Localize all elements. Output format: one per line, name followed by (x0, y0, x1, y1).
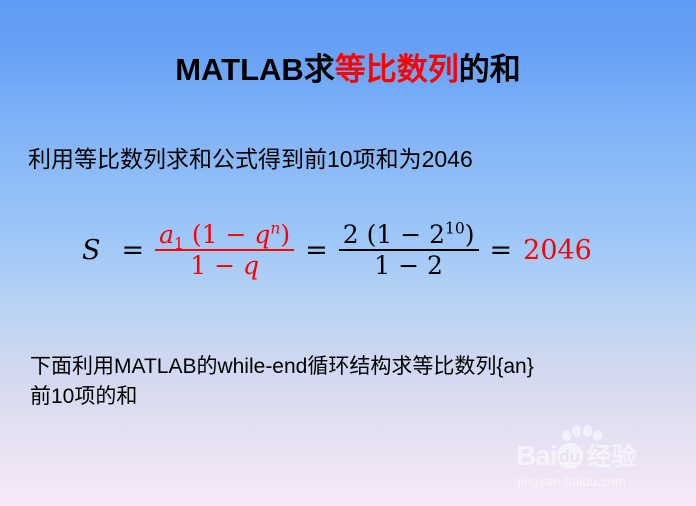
paw-toe-4 (591, 429, 604, 443)
watermark-brand-row: Bai du 经验 (516, 436, 688, 470)
watermark-url: jingyan.baidu.com (516, 474, 688, 489)
formula-equals-second: = (294, 235, 339, 266)
formula-equals-third: = (479, 235, 524, 266)
formula-general-open: (1 − (184, 220, 254, 249)
formula-equals-first: = (111, 235, 156, 266)
paw-print-icon (560, 424, 606, 448)
formula-general-den-pre: 1 − (190, 251, 243, 280)
formula-a-symbol: a (159, 220, 174, 249)
body-line-sum-formula-result: 利用等比数列求和公式得到前10项和为2046 (28, 140, 473, 174)
body-paragraph-line-2: 前10项的和 (30, 382, 670, 412)
body-paragraph-line-1: 下面利用MATLAB的while-end循环结构求等比数列{an} (30, 355, 534, 378)
body-paragraph-while-end: 下面利用MATLAB的while-end循环结构求等比数列{an} 前10项的和 (30, 352, 670, 412)
formula-numeric-numerator: 2 (1 − 210) (339, 222, 479, 249)
slide-title: MATLAB求等比数列的和 (0, 44, 696, 89)
slide-title-highlight: 等比数列 (335, 52, 459, 87)
paw-toe-1 (560, 429, 573, 443)
formula-q-symbol: q (254, 220, 270, 249)
formula-general-fraction: a1 (1 − qn) 1 − q (155, 222, 294, 280)
paw-toe-3 (583, 425, 592, 437)
formula-numeric-denominator: 1 − 2 (370, 251, 447, 279)
formula-general-denominator: 1 − q (186, 251, 263, 279)
paw-toe-2 (572, 425, 581, 437)
formula-numeric-exponent: 10 (445, 220, 465, 238)
presentation-slide: MATLAB求等比数列的和 利用等比数列求和公式得到前10项和为2046 S =… (0, 0, 696, 506)
formula-numeric-fraction: 2 (1 − 210) 1 − 2 (339, 222, 479, 280)
watermark-brand-latin: Bai (516, 442, 557, 470)
formula-result-value: 2046 (523, 235, 592, 266)
slide-title-prefix: MATLAB求 (175, 52, 335, 87)
formula-numeric-num-post: ) (465, 220, 475, 249)
formula-general-close: ) (280, 220, 290, 249)
formula-general-numerator: a1 (1 − qn) (155, 222, 294, 249)
formula-lhs-symbol: S (82, 235, 111, 266)
geometric-series-formula: S = a1 (1 − qn) 1 − q = 2 (1 − 210) 1 − … (82, 222, 592, 280)
formula-general-den-q: q (243, 251, 259, 280)
baidu-jingyan-watermark: Bai du 经验 jingyan.baidu.com (516, 436, 688, 498)
formula-numeric-num-pre: 2 (1 − 2 (343, 220, 445, 249)
slide-title-suffix: 的和 (459, 52, 521, 87)
formula-q-exponent: n (270, 220, 280, 238)
